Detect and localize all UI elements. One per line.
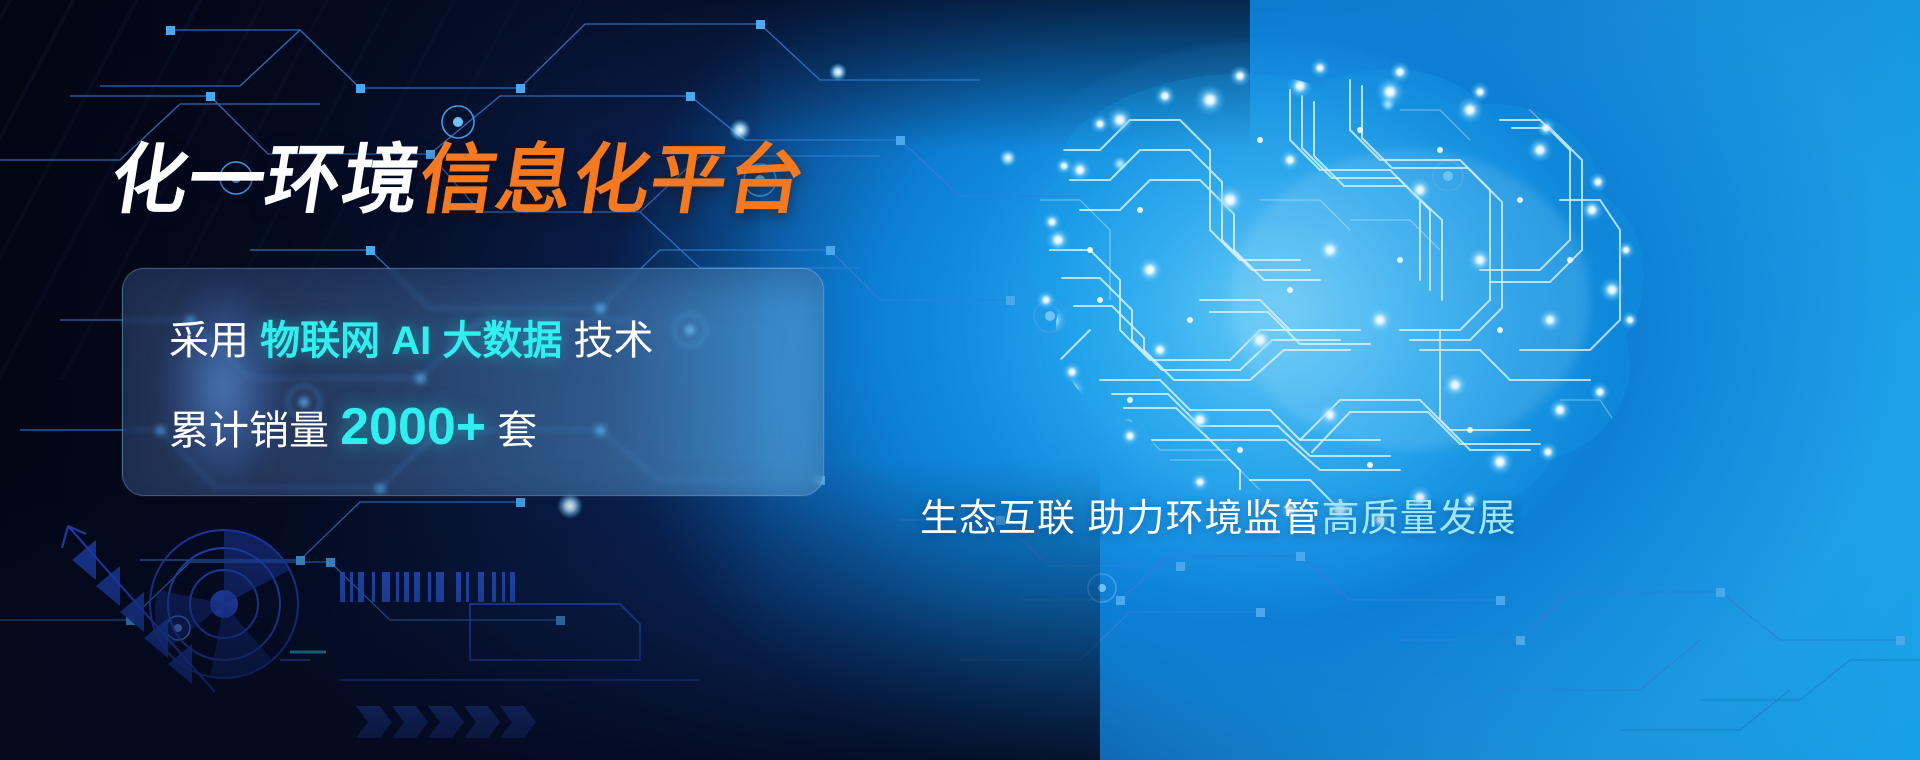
tagline-part-light: 高质量发展 <box>1322 498 1517 540</box>
tagline-part-white: 生态互联 助力环境监管 <box>920 498 1322 540</box>
sales-count: 2000+ <box>340 398 486 456</box>
card-line1-prefix: 采用 <box>169 319 249 363</box>
highlight-card: 采用 物联网 AI 大数据 技术 累计销量 2000+ 套 <box>122 268 824 496</box>
title-part-orange: 信息化平台 <box>413 138 811 223</box>
hero-banner: 化一环境信息化平台 采用 物联网 AI 大数据 技术 累计销量 2000+ 套 … <box>0 0 1920 760</box>
card-line2-suffix: 套 <box>497 409 537 453</box>
card-line-sales: 累计销量 2000+ 套 <box>169 401 823 453</box>
title-part-white: 化一环境 <box>105 138 426 223</box>
card-line1-highlight: 物联网 AI 大数据 <box>260 319 562 363</box>
tagline: 生态互联 助力环境监管高质量发展 <box>920 487 1517 542</box>
card-glow <box>158 279 288 494</box>
card-line2-prefix: 累计销量 <box>169 409 329 453</box>
card-line-technology: 采用 物联网 AI 大数据 技术 <box>169 321 823 361</box>
page-title: 化一环境信息化平台 <box>106 143 811 219</box>
card-line1-suffix: 技术 <box>573 319 653 363</box>
